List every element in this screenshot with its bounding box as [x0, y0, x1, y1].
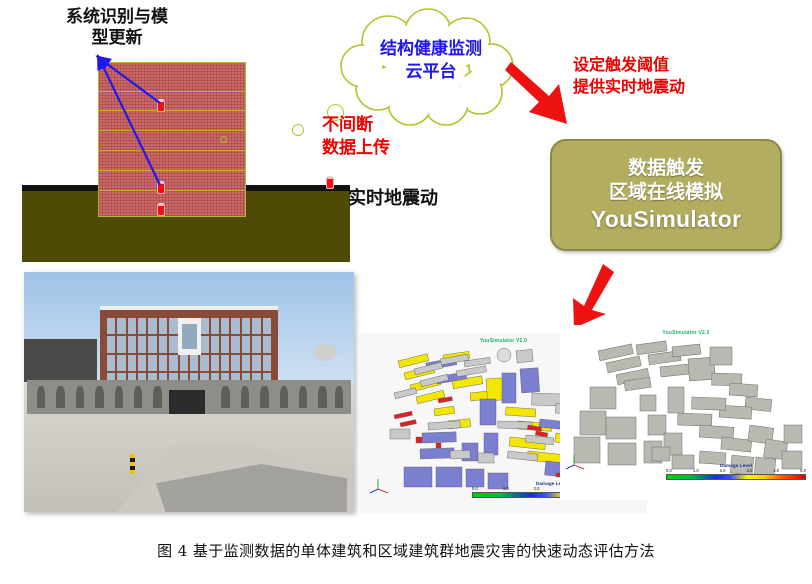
legend-tick: 0.0: [472, 486, 478, 491]
legend-tick: 2.0: [720, 468, 726, 473]
legend-ticks: 0.0 1.0 2.0 3.0 4.0 5.0: [666, 468, 806, 473]
campus-building-photo: [24, 272, 354, 512]
simulator-box-line2: 区域在线模拟: [609, 181, 723, 205]
legend-colorbar: [666, 474, 806, 480]
legend-tick: 3.0: [746, 468, 752, 473]
ground-sensor-icon: [326, 177, 334, 189]
simulator-box-line1: 数据触发: [628, 157, 704, 181]
simulator-box-product-name: YouSimulator: [591, 206, 741, 233]
yousimulator-box[interactable]: 数据触发 区域在线模拟 YouSimulator: [550, 139, 782, 251]
continuous-upload-label-line2: 数据上传: [322, 137, 442, 160]
system-identification-label-line2: 型更新: [22, 27, 212, 48]
continuous-upload-label: 不间断 数据上传: [322, 114, 442, 160]
realtime-ground-motion-label: 实时地震动: [348, 184, 438, 210]
data-bubble-icon: [292, 124, 304, 136]
photo-left-building: [24, 339, 97, 382]
cloud-platform-label: 结构健康监测 云平台: [336, 38, 526, 84]
system-identification-label: 系统识别与模 型更新: [22, 6, 212, 49]
legend-tick: 1.0: [503, 486, 509, 491]
damage-legend: Damage Level 0.0 1.0 2.0 3.0 4.0 5.0: [666, 463, 806, 480]
photo-center-bay: [178, 318, 201, 354]
legend-tick: 1.0: [693, 468, 699, 473]
simulation-panel-intact[interactable]: YouSimulator V2.0: [560, 325, 812, 500]
trigger-threshold-label-line1: 设定触发阈值: [573, 55, 778, 77]
photo-entrance: [169, 390, 205, 414]
arrow-simulator-to-results-icon: [568, 262, 618, 330]
cloud-platform-group: 结构健康监测 云平台: [336, 8, 526, 128]
cloud-platform-label-line2: 云平台: [336, 61, 526, 84]
continuous-upload-label-line1: 不间断: [322, 114, 442, 137]
system-identification-label-line1: 系统识别与模: [66, 7, 168, 26]
trigger-threshold-label: 设定触发阈值 提供实时地震动: [573, 55, 778, 100]
cloud-platform-label-line1: 结构健康监测: [336, 38, 526, 61]
photo-bollard: [130, 454, 135, 473]
figure-caption: 图 4 基于监测数据的单体建筑和区域建筑群地震灾害的快速动态评估方法: [0, 540, 812, 561]
legend-tick: 0.0: [666, 468, 672, 473]
legend-tick: 5.0: [800, 468, 806, 473]
legend-tick: 4.0: [773, 468, 779, 473]
trigger-threshold-label-line2: 提供实时地震动: [573, 77, 778, 99]
legend-tick: 2.0: [534, 486, 540, 491]
